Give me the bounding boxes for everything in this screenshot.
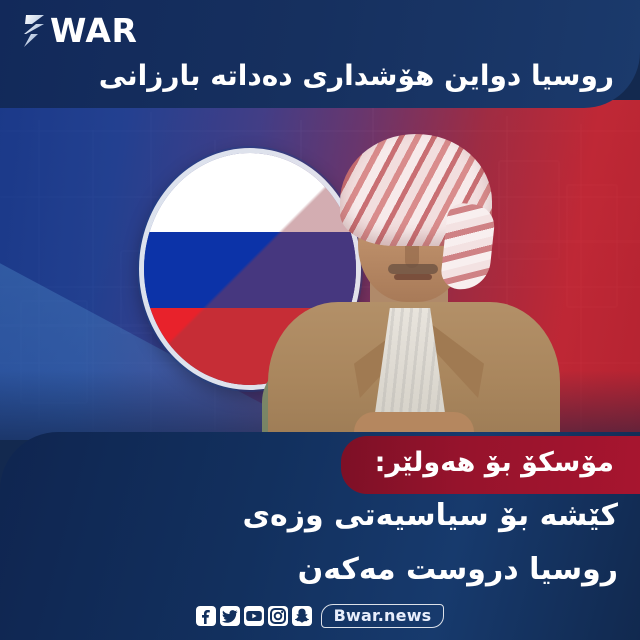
moustache [388,264,438,274]
masoud-barzani-portrait [262,112,562,442]
facebook-icon[interactable] [196,606,216,626]
bwar-b-mark-icon [22,14,48,48]
page-title: روسیا دواین هۆشداری دەداتە بارزانی [26,56,614,96]
bwar-logo[interactable]: WAR [22,14,137,48]
header-band: WAR روسیا دواین هۆشداری دەداتە بارزانی [0,0,640,108]
snapchat-icon[interactable] [292,606,312,626]
mouth [394,274,432,280]
instagram-icon[interactable] [268,606,288,626]
turban-tail [440,202,497,293]
twitter-icon[interactable] [220,606,240,626]
youtube-icon[interactable] [244,606,264,626]
status-badge: مۆسکۆ بۆ هەولێر: [341,436,640,494]
site-handle[interactable]: Bwar.news [321,604,445,628]
news-card: WAR روسیا دواین هۆشداری دەداتە بارزانی م… [0,0,640,640]
bwar-logo-text: WAR [50,14,137,48]
bottom-caption-panel: مۆسکۆ بۆ هەولێر: کێشە بۆ سیاسیەتی وزەی ر… [0,432,640,640]
caption-line-2: روسیا دروست مەکەن [22,548,618,592]
caption-line-1: کێشە بۆ سیاسیەتی وزەی [22,494,618,538]
social-links-row: Bwar.news [0,604,640,628]
